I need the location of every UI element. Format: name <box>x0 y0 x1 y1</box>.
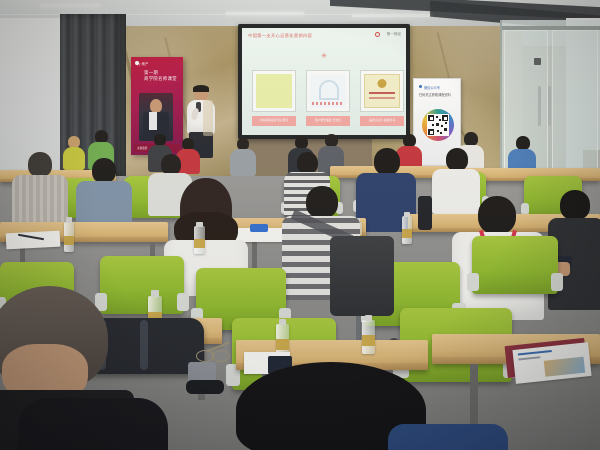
slide-card-seal-icon <box>378 79 387 88</box>
glass-door-handle[interactable] <box>548 86 551 126</box>
brochure-image <box>544 357 585 377</box>
banner-headline: 第一期 商学院名师课堂 <box>144 70 180 82</box>
door-lock-icon <box>534 58 541 65</box>
glass-door-track <box>502 26 600 30</box>
speaker-hair <box>193 85 209 92</box>
portrait-face <box>150 99 162 113</box>
head <box>92 158 116 183</box>
head <box>306 186 338 218</box>
head <box>374 148 400 175</box>
slide-logo-text: 第一财经 <box>387 32 401 37</box>
projector-screen: 中国第一支开心运营化营销内容 第一财经 ✳ 内容营销运营 核心要点 用户增长路径… <box>242 28 406 135</box>
water-bottle[interactable] <box>402 216 412 244</box>
head <box>446 148 468 171</box>
water-bottle[interactable] <box>362 320 375 354</box>
slide-card-image <box>310 74 346 108</box>
ceiling-light-strip <box>352 14 430 17</box>
water-bottle[interactable] <box>64 222 74 252</box>
slide-card-image <box>256 74 292 108</box>
attendee-foreground-shoulder <box>18 398 168 450</box>
banner-logo-text: 大·地产 <box>137 61 148 66</box>
table-leg <box>470 364 478 424</box>
head <box>560 190 590 220</box>
glass-door-handle[interactable] <box>538 86 541 126</box>
slide-card-caption: 用户增长路径 方法论 <box>306 116 350 126</box>
head <box>161 154 181 175</box>
head <box>464 132 478 146</box>
paper-sheet[interactable] <box>6 231 61 250</box>
brochure-title-line <box>518 350 552 356</box>
attendee-foreground-blue-shoulder <box>388 424 508 450</box>
phone-blue[interactable] <box>250 224 268 232</box>
portrait-shirt <box>149 112 157 130</box>
projector-screen-frame: 中国第一支开心运营化营销内容 第一财经 ✳ 内容营销运营 核心要点 用户增长路径… <box>238 24 410 139</box>
slide-card-dots <box>312 102 344 105</box>
attendee-grey-back <box>230 138 256 176</box>
slide-card-caption: 内容营销运营 核心要点 <box>252 116 296 126</box>
qr-banner-logo-text: 微信公众号 <box>424 85 440 90</box>
shoulder <box>18 398 168 450</box>
slide-card <box>306 70 350 112</box>
brochure-line <box>518 356 540 360</box>
chair-green-front[interactable] <box>472 236 558 294</box>
ceiling-light-strip <box>40 4 100 7</box>
head <box>28 152 52 177</box>
eyeglasses-icon[interactable] <box>212 350 230 362</box>
head <box>297 152 318 174</box>
backpack-strap <box>140 320 148 370</box>
seminar-room-photo: 中国第一支开心运营化营销内容 第一财经 ✳ 内容营销运营 核心要点 用户增长路径… <box>0 0 600 450</box>
slide-card-image <box>364 74 400 108</box>
slide-card-line <box>369 97 395 99</box>
podium-stand <box>203 100 213 136</box>
phone-case[interactable] <box>186 380 224 394</box>
water-bottle[interactable] <box>194 226 205 254</box>
head <box>516 136 530 150</box>
qr-color-ring <box>422 109 454 141</box>
slide-card-line <box>369 92 395 94</box>
chair-dark-swivel[interactable] <box>330 236 394 316</box>
qr-banner-subtitle: 扫码关注获取课程资料 <box>419 93 456 97</box>
head <box>478 196 516 234</box>
slide-logo-icon <box>375 32 380 37</box>
slide-card <box>360 70 404 112</box>
slide-card-caption: 品牌认证与 权威背书 <box>360 116 404 126</box>
qr-code-icon[interactable] <box>427 114 449 136</box>
slide-card-shape <box>319 80 339 100</box>
thermos-flask[interactable] <box>418 196 432 230</box>
slide-arrow-icon: ✳ <box>321 52 327 60</box>
wechat-logo-icon <box>419 85 422 88</box>
slide-title: 中国第一支开心运营化营销内容 <box>248 33 312 39</box>
slide-card <box>252 70 296 112</box>
ceiling-light-strip <box>226 12 304 15</box>
shirt <box>230 149 256 176</box>
